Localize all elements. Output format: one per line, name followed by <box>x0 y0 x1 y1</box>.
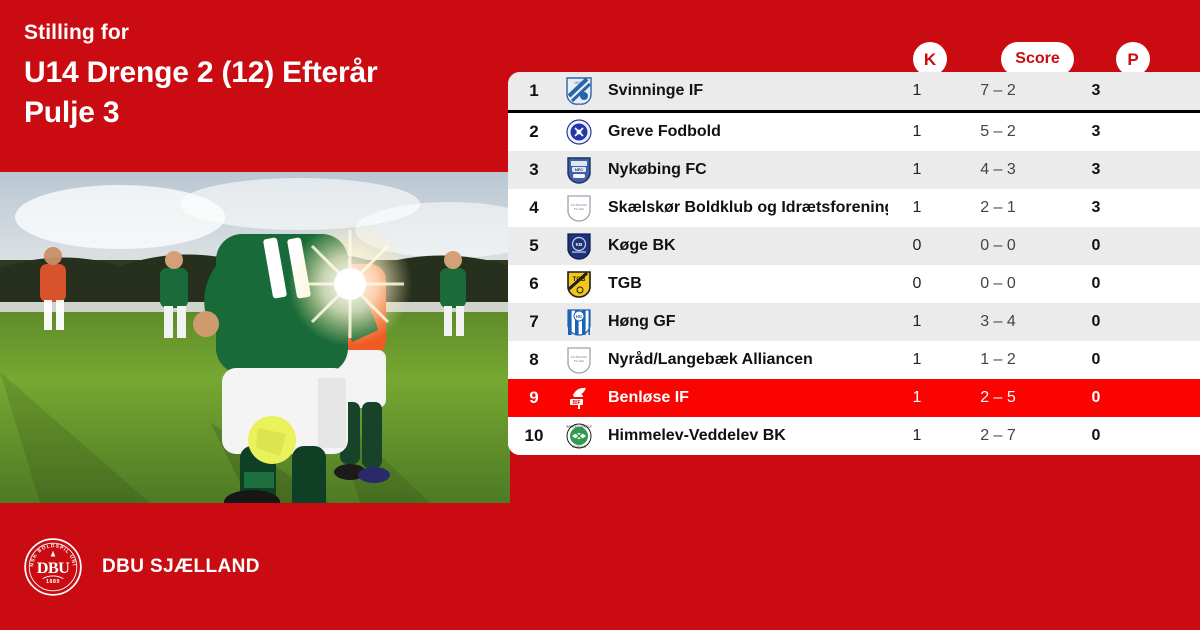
himmelev-veddelev-bk-badge: HIMMELEV-VEDDELEVBOLDKLUB <box>560 422 598 450</box>
row-goal-score: 7 – 2 <box>946 82 1050 100</box>
skaelskoer-badge: KLUBLOGOPÅ VEJ <box>560 194 598 222</box>
svg-text:1924: 1924 <box>574 81 582 85</box>
footer-brand-label: DBU SJÆLLAND <box>102 556 260 578</box>
row-points: 0 <box>1050 237 1142 255</box>
row-points: 0 <box>1050 389 1142 407</box>
row-matches-played: 1 <box>888 351 946 369</box>
row-position: 3 <box>508 160 560 180</box>
row-goal-score: 0 – 0 <box>946 275 1050 293</box>
row-team-name: Himmelev-Veddelev BK <box>598 427 888 445</box>
row-position: 4 <box>508 198 560 218</box>
svg-text:BIF: BIF <box>572 400 580 406</box>
row-team-name: Høng GF <box>598 313 888 331</box>
column-header-points: P <box>1116 42 1150 76</box>
footer-bar: DBU 1889 DANSK BOLDSPIL UNION DBU SJÆLLA… <box>0 503 510 630</box>
title-block: Stilling for U14 Drenge 2 (12) Efterår P… <box>24 20 494 132</box>
table-row[interactable]: 8KLUBLOGOPÅ VEJNyråd/Langebæk Alliancen1… <box>508 341 1200 379</box>
row-team-name: Køge BK <box>598 237 888 255</box>
tgb-badge: TGB <box>560 270 598 298</box>
row-matches-played: 1 <box>888 123 946 141</box>
row-position: 7 <box>508 312 560 332</box>
greve-fodbold-badge <box>560 118 598 146</box>
row-team-name: Svinninge IF <box>598 82 888 100</box>
row-points: 0 <box>1050 427 1142 445</box>
table-row[interactable]: 7HGHøng GF13 – 40 <box>508 303 1200 341</box>
column-header-matches: K <box>913 42 947 76</box>
row-matches-played: 1 <box>888 313 946 331</box>
row-matches-played: 0 <box>888 237 946 255</box>
row-team-name: Benløse IF <box>598 389 888 407</box>
dbu-seal-logo: DBU 1889 DANSK BOLDSPIL UNION <box>24 538 82 596</box>
nyraad-langebaek-badge: KLUBLOGOPÅ VEJ <box>560 346 598 374</box>
row-matches-played: 1 <box>888 389 946 407</box>
svg-text:NFC: NFC <box>575 167 583 172</box>
standings-graphic: Stilling for U14 Drenge 2 (12) Efterår P… <box>0 0 1200 630</box>
svg-text:KB: KB <box>576 242 583 247</box>
row-goal-score: 0 – 0 <box>946 237 1050 255</box>
row-matches-played: 1 <box>888 82 946 100</box>
svg-text:HG: HG <box>576 314 582 319</box>
svg-text:PÅ VEJ: PÅ VEJ <box>574 206 585 211</box>
svinninge-if-badge: 1924 <box>560 77 598 105</box>
row-position: 10 <box>508 426 560 446</box>
row-matches-played: 0 <box>888 275 946 293</box>
standings-table: 11924Svinninge IF17 – 232Greve Fodbold15… <box>508 72 1200 455</box>
svg-text:HIMMELEV-VEDDELEV: HIMMELEV-VEDDELEV <box>566 425 592 429</box>
svg-text:1889: 1889 <box>46 579 60 585</box>
row-position: 8 <box>508 350 560 370</box>
row-matches-played: 1 <box>888 161 946 179</box>
row-points: 3 <box>1050 161 1142 179</box>
row-team-name: Skælskør Boldklub og Idrætsforening <box>598 199 888 217</box>
table-row[interactable]: 10HIMMELEV-VEDDELEVBOLDKLUBHimmelev-Vedd… <box>508 417 1200 455</box>
row-goal-score: 3 – 4 <box>946 313 1050 331</box>
column-header-score: Score <box>1001 42 1074 76</box>
svg-text:PÅ VEJ: PÅ VEJ <box>574 358 585 363</box>
row-matches-played: 1 <box>888 427 946 445</box>
row-points: 3 <box>1050 82 1142 100</box>
benloese-if-badge: BIF <box>560 384 598 412</box>
kicker-text: Stilling for <box>24 20 494 45</box>
row-team-name: Greve Fodbold <box>598 123 888 141</box>
koege-bk-badge: KB <box>560 232 598 260</box>
row-goal-score: 2 – 5 <box>946 389 1050 407</box>
table-row[interactable]: 5KBKøge BK00 – 00 <box>508 227 1200 265</box>
row-points: 0 <box>1050 313 1142 331</box>
table-row[interactable]: 2Greve Fodbold15 – 23 <box>508 113 1200 151</box>
row-team-name: Nyråd/Langebæk Alliancen <box>598 351 888 369</box>
row-points: 3 <box>1050 123 1142 141</box>
page-title: U14 Drenge 2 (12) Efterår Pulje 3 <box>24 53 494 132</box>
row-position: 1 <box>508 81 560 101</box>
table-row[interactable]: 9BIFBenløse IF12 – 50 <box>508 379 1200 417</box>
row-team-name: Nykøbing FC <box>598 161 888 179</box>
table-row[interactable]: 3NFCNykøbing FC14 – 33 <box>508 151 1200 189</box>
match-photo <box>0 172 510 503</box>
svg-text:BOLDKLUB: BOLDKLUB <box>572 445 586 449</box>
row-goal-score: 4 – 3 <box>946 161 1050 179</box>
svg-text:DBU: DBU <box>37 558 70 576</box>
table-row[interactable]: 4KLUBLOGOPÅ VEJSkælskør Boldklub og Idræ… <box>508 189 1200 227</box>
row-position: 6 <box>508 274 560 294</box>
nykoebing-fc-badge: NFC <box>560 156 598 184</box>
table-row[interactable]: 11924Svinninge IF17 – 23 <box>508 72 1200 113</box>
row-position: 9 <box>508 388 560 408</box>
row-points: 0 <box>1050 275 1142 293</box>
row-goal-score: 5 – 2 <box>946 123 1050 141</box>
row-team-name: TGB <box>598 275 888 293</box>
row-points: 0 <box>1050 351 1142 369</box>
row-goal-score: 1 – 2 <box>946 351 1050 369</box>
row-goal-score: 2 – 7 <box>946 427 1050 445</box>
row-position: 2 <box>508 122 560 142</box>
row-position: 5 <box>508 236 560 256</box>
table-row[interactable]: 6TGBTGB00 – 00 <box>508 265 1200 303</box>
row-matches-played: 1 <box>888 199 946 217</box>
svg-text:TGB: TGB <box>573 277 586 283</box>
hoeng-gf-badge: HG <box>560 308 598 336</box>
row-goal-score: 2 – 1 <box>946 199 1050 217</box>
row-points: 3 <box>1050 199 1142 217</box>
